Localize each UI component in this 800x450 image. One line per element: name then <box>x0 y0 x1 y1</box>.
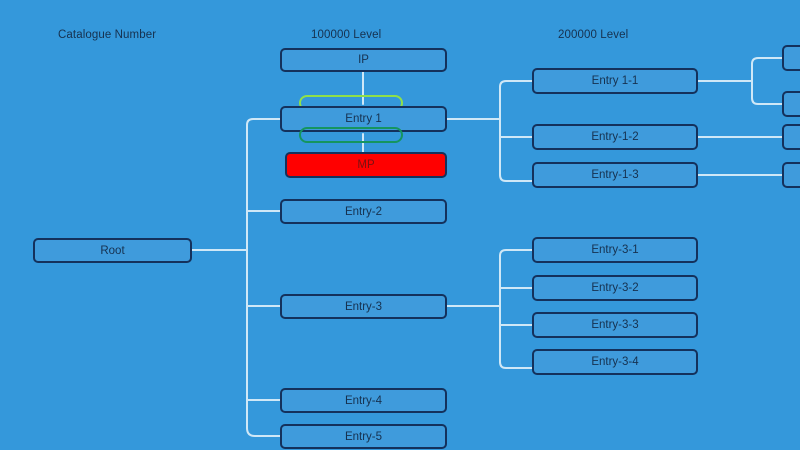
node-root[interactable]: Root <box>33 238 192 263</box>
node-entry-3-3[interactable]: Entry-3-3 <box>532 312 698 338</box>
node-entry-2[interactable]: Entry-2 <box>280 199 447 224</box>
node-entry-1-3[interactable]: Entry-1-3 <box>532 162 698 188</box>
node-offscreen-1[interactable] <box>782 45 800 71</box>
node-entry-3-1-label: Entry-3-1 <box>591 244 638 256</box>
node-entry-4-label: Entry-4 <box>345 395 382 407</box>
node-entry-3-4-label: Entry-3-4 <box>591 356 638 368</box>
column-header-catalogue-number: Catalogue Number <box>58 29 156 41</box>
node-entry-3-3-label: Entry-3-3 <box>591 319 638 331</box>
node-entry-3-4[interactable]: Entry-3-4 <box>532 349 698 375</box>
column-header-100000-level: 100000 Level <box>311 29 381 41</box>
node-ip[interactable]: IP <box>280 48 447 72</box>
node-entry-2-label: Entry-2 <box>345 206 382 218</box>
node-entry-5-label: Entry-5 <box>345 431 382 443</box>
node-entry-1-1-label: Entry 1-1 <box>592 75 639 87</box>
node-ip-label: IP <box>358 54 369 66</box>
diagram-canvas: Catalogue Number 100000 Level 200000 Lev… <box>0 0 800 450</box>
column-header-200000-level: 200000 Level <box>558 29 628 41</box>
node-offscreen-2[interactable] <box>782 91 800 117</box>
node-entry-3-1[interactable]: Entry-3-1 <box>532 237 698 263</box>
node-entry-3-2-label: Entry-3-2 <box>591 282 638 294</box>
node-entry-4[interactable]: Entry-4 <box>280 388 447 413</box>
node-entry-1-2-label: Entry-1-2 <box>591 131 638 143</box>
node-entry-1-label: Entry 1 <box>345 113 381 125</box>
node-entry-3[interactable]: Entry-3 <box>280 294 447 319</box>
node-entry-3-2[interactable]: Entry-3-2 <box>532 275 698 301</box>
node-offscreen-3[interactable] <box>782 124 800 150</box>
node-entry-1-2[interactable]: Entry-1-2 <box>532 124 698 150</box>
node-entry-1-1[interactable]: Entry 1-1 <box>532 68 698 94</box>
node-root-label: Root <box>100 245 124 257</box>
node-entry-1-3-label: Entry-1-3 <box>591 169 638 181</box>
node-entry-3-label: Entry-3 <box>345 301 382 313</box>
node-mp-label: MP <box>357 159 374 171</box>
node-mp[interactable]: MP <box>285 152 447 178</box>
node-offscreen-4[interactable] <box>782 162 800 188</box>
highlight-ring-lower <box>299 127 403 143</box>
node-entry-5[interactable]: Entry-5 <box>280 424 447 449</box>
